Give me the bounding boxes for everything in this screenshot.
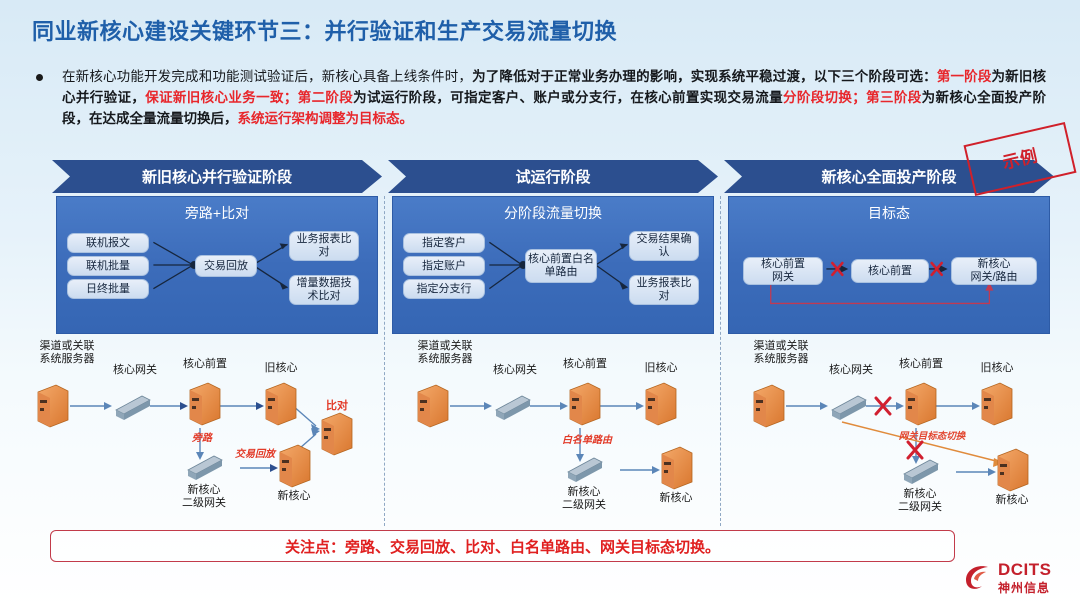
gateway-icon-secondary-2 (568, 458, 602, 482)
gateway-icon-secondary (188, 456, 222, 480)
panel2-output-1[interactable]: 交易结果确认 (629, 231, 699, 261)
bullet-seg-1: 在新核心功能开发完成和功能测试验证后，新核心具备上线条件时， (62, 69, 472, 84)
server-diagram-3: 渠道或关联 系统服务器 核心网关 核心前置 旧核心 网关目标态切换 新核心 二级… (724, 338, 1064, 526)
gateway-icon-core-2 (496, 396, 530, 420)
server-icon-new-core (280, 445, 310, 487)
diag1-label-gateway: 核心网关 (106, 364, 164, 377)
diag1-edge-label-replay: 交易回放 (226, 448, 284, 461)
flow-panel-3-title: 目标态 (729, 203, 1049, 223)
diag3-label-new-core: 新核心 (984, 494, 1040, 507)
server-icon-compare (322, 413, 352, 455)
panel1-output-2[interactable]: 增量数据技术比对 (289, 275, 359, 305)
panel3-chain-1[interactable]: 核心前置 网关 (743, 257, 823, 285)
server-icon-source-3 (754, 385, 784, 427)
phase-banner-3-label: 新核心全面投产阶段 (821, 166, 956, 187)
bullet-dot-icon (36, 74, 43, 81)
diag2-label-new-core: 新核心 (648, 492, 704, 505)
server-icon-front-3 (906, 383, 936, 425)
column-separator-2 (720, 196, 721, 526)
logo-text-en: DCITS (998, 560, 1052, 580)
gateway-icon-secondary-3 (904, 460, 938, 484)
bullet-seg-11: 系统运行架构调整为目标态。 (238, 111, 414, 126)
server-icon-new-core-3 (998, 449, 1028, 491)
dcits-swoosh-icon (962, 562, 994, 592)
diag1-label-compare: 比对 (312, 400, 362, 413)
focus-points-callout: 关注点：旁路、交易回放、比对、白名单路由、网关目标态切换。 (50, 530, 955, 562)
server-icon-source-2 (418, 385, 448, 427)
bullet-seg-8: 分阶段切换； (783, 90, 866, 105)
diag3-label-source: 渠道或关联 系统服务器 (740, 340, 822, 366)
panel1-input-2[interactable]: 联机批量 (67, 256, 149, 276)
phase-banner-2[interactable]: 试运行阶段 (388, 160, 718, 193)
gateway-icon-core-3 (832, 396, 866, 420)
server-icon-front (190, 383, 220, 425)
server-icon-new-core-2 (662, 447, 692, 489)
panel1-input-1[interactable]: 联机报文 (67, 233, 149, 253)
bullet-seg-9: 第三阶段 (866, 90, 922, 105)
diag1-label-sec-gateway: 新核心 二级网关 (166, 484, 242, 510)
bullet-seg-3: 第一阶段 (937, 69, 992, 84)
diag2-label-gateway: 核心网关 (486, 364, 544, 377)
panel2-input-2[interactable]: 指定账户 (403, 256, 485, 276)
diag3-label-sec-gateway: 新核心 二级网关 (882, 488, 958, 514)
panel3-chain-2[interactable]: 核心前置 (851, 259, 929, 283)
bullet-seg-2: 为了降低对于正常业务办理的影响，实现系统平稳过渡，以下三个阶段可选： (472, 69, 937, 84)
panel2-center-node[interactable]: 核心前置白名单路由 (525, 249, 597, 283)
phase-banner-1-label: 新旧核心并行验证阶段 (142, 166, 292, 187)
panel3-chain-3-label: 新核心 网关/路由 (970, 258, 1017, 284)
bullet-seg-7: 为试运行阶段，可指定客户、账户或分支行，在核心前置实现交易流量 (353, 90, 783, 105)
diag3-edge-label-gateway-switch: 网关目标态切换 (884, 430, 980, 443)
logo-text-cn: 神州信息 (998, 579, 1050, 596)
server-diagram-2: 渠道或关联 系统服务器 核心网关 核心前置 旧核心 白名单路由 新核心 二级网关… (388, 338, 720, 526)
phase-banner-2-label: 试运行阶段 (515, 166, 590, 187)
phase-banner-1[interactable]: 新旧核心并行验证阶段 (52, 160, 382, 193)
diag2-label-old-core: 旧核心 (636, 362, 686, 375)
diag1-label-front: 核心前置 (174, 358, 236, 371)
diag2-label-front: 核心前置 (554, 358, 616, 371)
panel3-chain-2-label: 核心前置 (868, 265, 912, 278)
bullet-paragraph: 在新核心功能开发完成和功能测试验证后，新核心具备上线条件时，为了降低对于正常业务… (36, 66, 1046, 129)
panel2-input-1[interactable]: 指定客户 (403, 233, 485, 253)
gateway-icon-core (116, 396, 150, 420)
diag1-edge-label-bypass: 旁路 (182, 432, 222, 445)
slide-canvas: 同业新核心建设关键环节三：并行验证和生产交易流量切换 在新核心功能开发完成和功能… (0, 0, 1080, 608)
panel2-output-2[interactable]: 业务报表比对 (629, 275, 699, 305)
panel3-chain-3[interactable]: 新核心 网关/路由 (951, 257, 1037, 285)
server-icon-old-core-3 (982, 383, 1012, 425)
page-title: 同业新核心建设关键环节三：并行验证和生产交易流量切换 (32, 14, 617, 46)
server-icon-front-2 (570, 383, 600, 425)
diag3-label-gateway: 核心网关 (822, 364, 880, 377)
company-logo: DCITS 神州信息 (962, 558, 1072, 600)
bullet-text: 在新核心功能开发完成和功能测试验证后，新核心具备上线条件时，为了降低对于正常业务… (62, 66, 1046, 129)
diag2-edge-label-whitelist: 白名单路由 (554, 434, 620, 447)
server-icon-old-core-2 (646, 383, 676, 425)
server-icon-source (38, 385, 68, 427)
panel3-chain-1-label: 核心前置 网关 (761, 258, 805, 284)
flow-panel-2: 分阶段流量切换 指定客户 指定账户 指定分支行 核心前置白名单路由 交易结果确认… (392, 196, 714, 334)
diag1-label-new-core: 新核心 (266, 490, 322, 503)
server-icon-old-core (266, 383, 296, 425)
server-diagram-1: 渠道或关联 系统服务器 核心网关 核心前置 旧核心 比对 旁路 交易回放 新核心… (22, 338, 384, 526)
diag3-label-old-core: 旧核心 (972, 362, 1022, 375)
flow-panel-3: 目标态 核心前置 网关 核心前置 新核心 网关/路由 (728, 196, 1050, 334)
diag2-label-source: 渠道或关联 系统服务器 (404, 340, 486, 366)
flow-panel-1-title: 旁路+比对 (57, 203, 377, 223)
flow-panel-1: 旁路+比对 联机报文 联机批量 日终批量 交易回放 业务报表比对 增量数据技术比… (56, 196, 378, 334)
panel1-input-3[interactable]: 日终批量 (67, 279, 149, 299)
flow-panel-2-title: 分阶段流量切换 (393, 203, 713, 223)
panel1-output-1[interactable]: 业务报表比对 (289, 231, 359, 261)
diag2-label-sec-gateway: 新核心 二级网关 (546, 486, 622, 512)
panel2-input-3[interactable]: 指定分支行 (403, 279, 485, 299)
panel1-center-node[interactable]: 交易回放 (195, 255, 257, 277)
diag3-label-front: 核心前置 (890, 358, 952, 371)
diag1-label-old-core: 旧核心 (256, 362, 306, 375)
focus-points-text: 关注点：旁路、交易回放、比对、白名单路由、网关目标态切换。 (285, 536, 720, 557)
bullet-seg-5: 保证新旧核心业务一致； (145, 90, 297, 105)
bullet-seg-6: 第二阶段 (297, 90, 353, 105)
diag1-label-source: 渠道或关联 系统服务器 (26, 340, 108, 366)
column-separator-1 (384, 196, 385, 526)
